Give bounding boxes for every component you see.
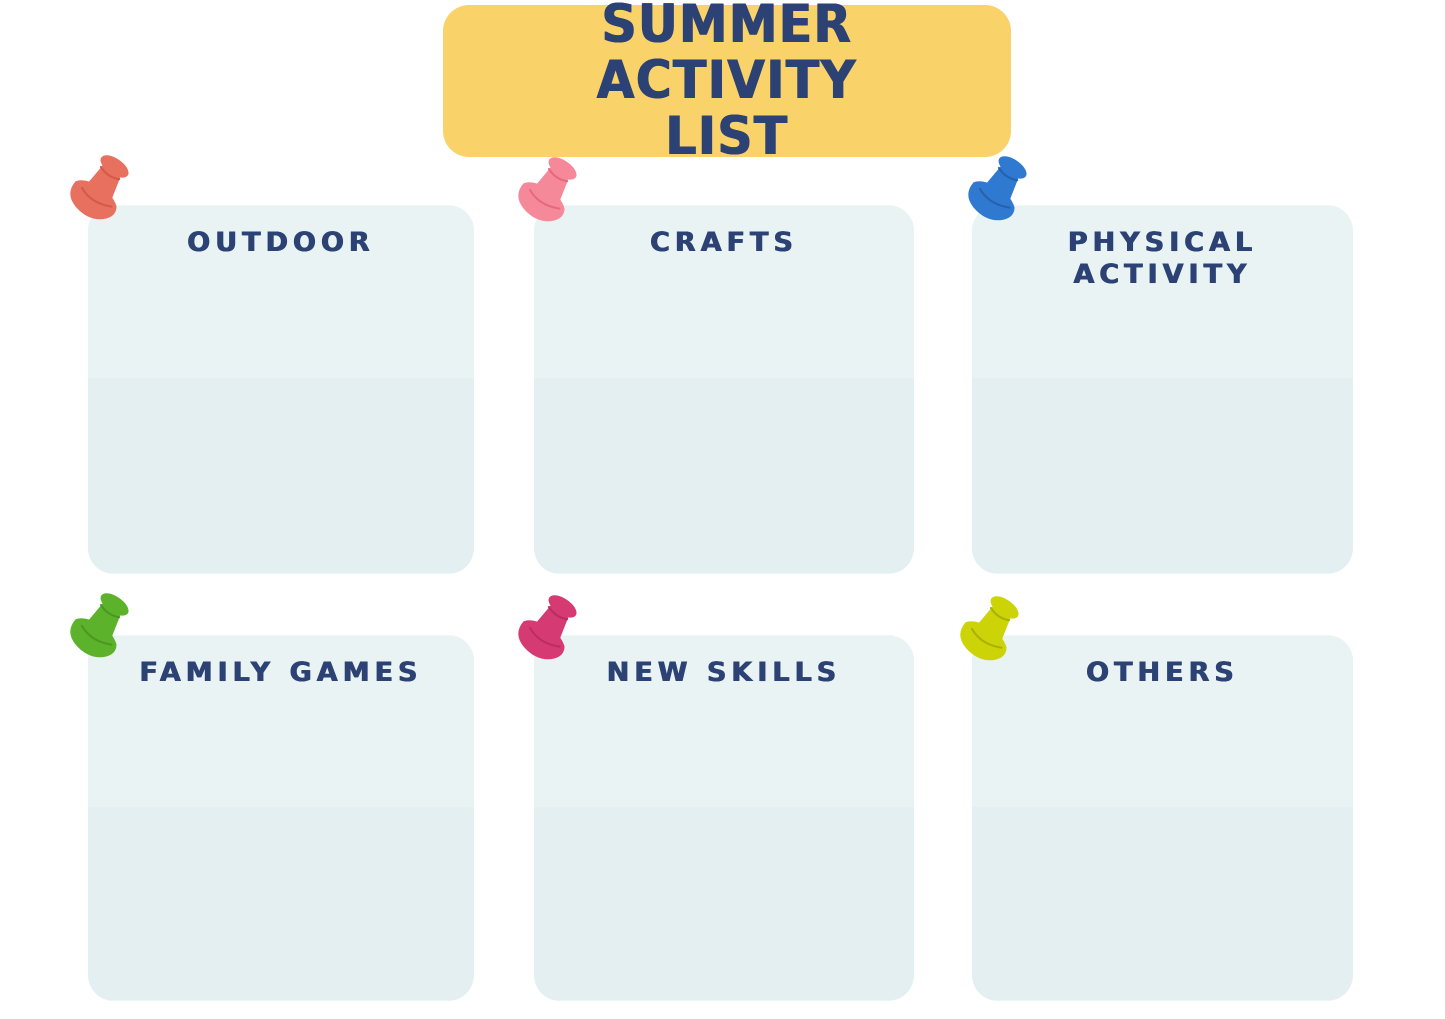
activity-card-crafts[interactable]: CRAFTS <box>534 205 914 574</box>
pushpin-icon-family-games[interactable] <box>52 578 148 674</box>
pushpin-icon <box>950 141 1046 237</box>
pushpin-icon-others[interactable] <box>942 581 1038 677</box>
page-title: SUMMER ACTIVITY LIST <box>466 0 989 165</box>
pushpin-icon-physical-activity[interactable] <box>950 141 1046 237</box>
pushpin-icon-outdoor[interactable] <box>52 140 148 236</box>
pushpin-icon-crafts[interactable] <box>500 142 596 238</box>
pushpin-icon-new-skills[interactable] <box>500 580 596 676</box>
activity-card-family-games[interactable]: FAMILY GAMES <box>88 635 474 1001</box>
activity-card-new-skills[interactable]: NEW SKILLS <box>534 635 914 1001</box>
activity-card-others[interactable]: OTHERS <box>972 635 1353 1001</box>
title-banner: SUMMER ACTIVITY LIST <box>443 5 1011 157</box>
pushpin-icon <box>52 578 148 674</box>
activity-board: OUTDOOR CRAFTS PHYSICAL ACTIVITY FAMILY … <box>0 0 1445 1019</box>
activity-card-outdoor[interactable]: OUTDOOR <box>88 205 474 574</box>
pushpin-icon <box>500 580 596 676</box>
pushpin-icon <box>942 581 1038 677</box>
pushpin-icon <box>52 140 148 236</box>
activity-card-physical-activity[interactable]: PHYSICAL ACTIVITY <box>972 205 1353 574</box>
pushpin-icon <box>500 142 596 238</box>
